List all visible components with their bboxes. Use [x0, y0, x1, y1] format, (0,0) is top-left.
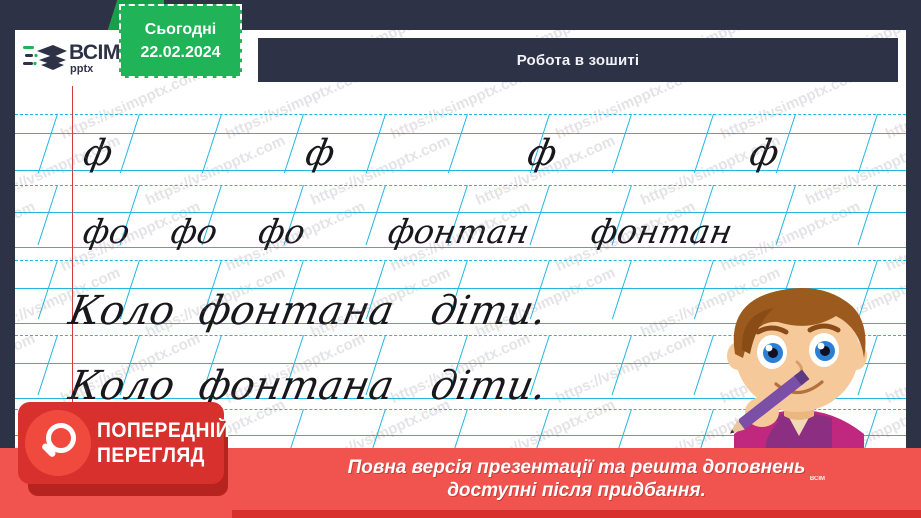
slant-guide-line [38, 260, 58, 319]
ruling-line-dashed [15, 260, 906, 261]
logo-suffix: pptx [70, 64, 120, 75]
date-badge-value: 22.02.2024 [140, 44, 220, 62]
magnifier-icon [25, 410, 91, 476]
watermark-text: https://vsimpptx.com [718, 198, 863, 275]
practice-row-letters: ф ф ф ф ф ф ф ф ф ф [80, 133, 906, 174]
logo-brand: ВСІМ [69, 42, 120, 63]
practice-sentence-1: Коло фонтана діти. [65, 288, 550, 334]
preview-line-1: ПОПЕРЕДНІЙ [97, 420, 230, 441]
ruling-line-dashed [15, 114, 906, 115]
page-title: Робота в зошиті [517, 52, 640, 69]
ruling-line-dashed [15, 185, 906, 186]
banner-underline [232, 510, 921, 518]
slant-guide-line [612, 260, 632, 319]
logo-wordmark: ВСІМ pptx [69, 42, 120, 75]
slant-guide-line [612, 335, 632, 395]
slant-guide-line [776, 185, 796, 245]
slant-guide-line [858, 185, 878, 245]
slant-guide-line [38, 185, 58, 245]
today-date-badge: Сьогодні 22.02.2024 [119, 4, 242, 78]
slide-title-bar: Робота в зошиті [258, 38, 898, 82]
preview-line-2: ПЕРЕГЛЯД [97, 445, 230, 466]
graduation-cap-icon [23, 41, 67, 75]
slant-guide-line [38, 335, 58, 395]
watermark-text: https://vsimpptx.com [553, 330, 698, 407]
slide-root: ф ф ф ф ф ф ф ф ф ф фо фо фо фонтан фонт… [0, 0, 921, 518]
watermark-text: https://vsimpptx.com [15, 330, 38, 407]
date-badge-label: Сьогодні [145, 21, 216, 39]
banner-line-2: доступні після придбання. [447, 479, 706, 502]
watermark-text: https://vsimpptx.com [883, 198, 906, 275]
preview-badge[interactable]: ПОПЕРЕДНІЙ ПЕРЕГЛЯД [18, 402, 224, 484]
banner-line-1: Повна версія презентації та решта доповн… [348, 456, 806, 479]
slant-guide-line [38, 114, 58, 173]
watermark-text: https://vsimpptx.com [15, 198, 38, 275]
book-bcim-mark: ВСІМ [810, 476, 825, 482]
preview-badge-text: ПОПЕРЕДНІЙ ПЕРЕГЛЯД [97, 420, 242, 466]
boy-with-pencil-illustration [704, 284, 894, 459]
practice-row-syllables: фо фо фо фонтан фонтан [80, 212, 736, 251]
